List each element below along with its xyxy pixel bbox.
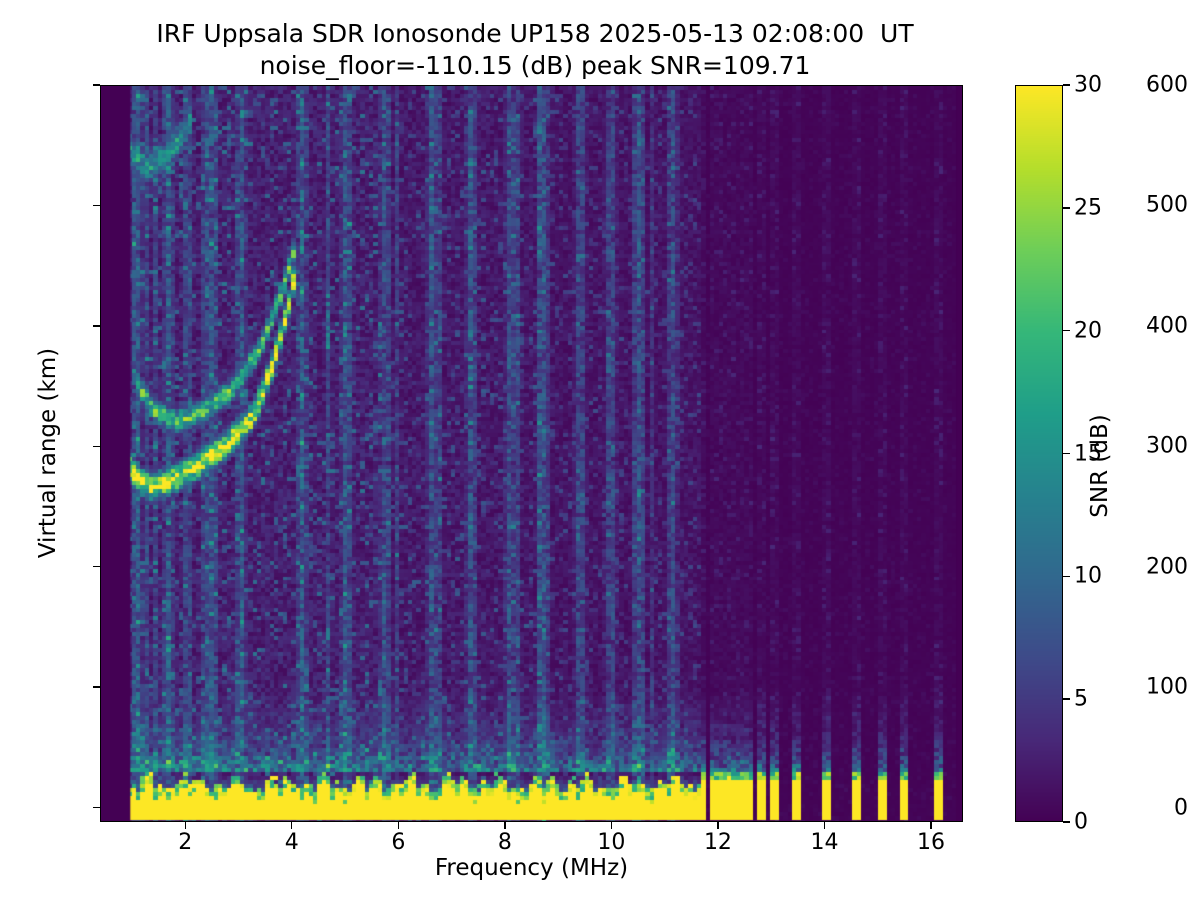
x-axis-label: Frequency (MHz) — [100, 855, 963, 881]
x-tick-label-10: 10 — [597, 830, 625, 855]
x-tick-label-4: 4 — [285, 830, 299, 855]
x-tick-label-14: 14 — [810, 830, 838, 855]
colorbar-tick-mark — [1063, 453, 1070, 454]
y-tick-label-100: 100 — [1146, 675, 1188, 700]
x-tick-label-8: 8 — [498, 830, 512, 855]
x-tick-mark — [930, 822, 931, 829]
y-tick-mark — [93, 686, 100, 687]
x-tick-label-6: 6 — [391, 830, 405, 855]
y-axis-label: Virtual range (km) — [35, 173, 61, 733]
colorbar-tick-mark — [1063, 84, 1070, 85]
y-tick-label-200: 200 — [1146, 554, 1188, 579]
x-tick-mark — [504, 822, 505, 829]
y-tick-label-300: 300 — [1146, 434, 1188, 459]
y-tick-label-0: 0 — [1174, 795, 1188, 820]
x-tick-mark — [717, 822, 718, 829]
y-tick-mark — [93, 446, 100, 447]
x-tick-mark — [291, 822, 292, 829]
x-tick-mark — [185, 822, 186, 829]
colorbar-tick-label-25: 25 — [1074, 195, 1102, 220]
colorbar-tick-label-30: 30 — [1074, 73, 1102, 98]
y-tick-label-500: 500 — [1146, 193, 1188, 218]
y-tick-mark — [93, 807, 100, 808]
y-tick-mark — [93, 84, 100, 85]
x-tick-mark — [824, 822, 825, 829]
y-tick-mark — [93, 325, 100, 326]
colorbar-gradient-canvas — [1016, 86, 1063, 822]
y-tick-label-600: 600 — [1146, 73, 1188, 98]
figure-title: IRF Uppsala SDR Ionosonde UP158 2025-05-… — [0, 18, 1070, 82]
title-line-2: noise_floor=-110.15 (dB) peak SNR=109.71 — [0, 50, 1070, 82]
colorbar-tick-mark — [1063, 207, 1070, 208]
colorbar[interactable] — [1015, 85, 1063, 822]
x-tick-label-2: 2 — [178, 830, 192, 855]
ionogram-plot-area[interactable] — [100, 85, 963, 822]
ionogram-heatmap-canvas — [101, 86, 963, 822]
x-tick-mark — [398, 822, 399, 829]
y-tick-label-400: 400 — [1146, 313, 1188, 338]
y-tick-mark — [93, 566, 100, 567]
x-tick-mark — [611, 822, 612, 829]
colorbar-tick-label-5: 5 — [1074, 687, 1088, 712]
ionogram-figure: IRF Uppsala SDR Ionosonde UP158 2025-05-… — [0, 0, 1200, 900]
x-tick-label-12: 12 — [704, 830, 732, 855]
colorbar-tick-mark — [1063, 330, 1070, 331]
colorbar-tick-mark — [1063, 821, 1070, 822]
colorbar-tick-label-0: 0 — [1074, 810, 1088, 835]
y-tick-mark — [93, 205, 100, 206]
colorbar-tick-mark — [1063, 698, 1070, 699]
colorbar-tick-mark — [1063, 576, 1070, 577]
x-tick-label-16: 16 — [917, 830, 945, 855]
title-line-1: IRF Uppsala SDR Ionosonde UP158 2025-05-… — [156, 19, 913, 48]
colorbar-label: SNR (dB) — [1087, 266, 1113, 666]
